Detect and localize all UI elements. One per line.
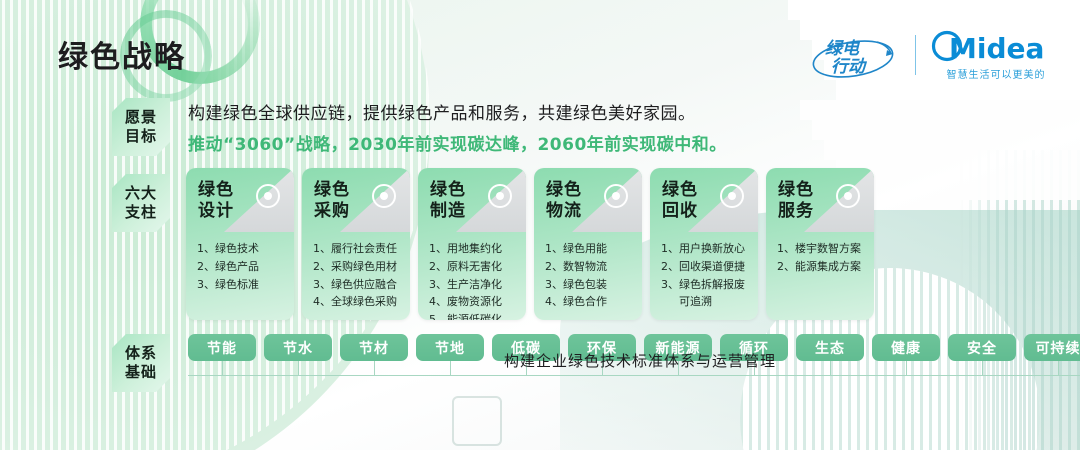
target-ring-icon: [488, 184, 512, 208]
vision-line-2: 推动“3060”战略，2030年前实现碳达峰，2060年前实现碳中和。: [188, 130, 727, 155]
brand-divider: [915, 35, 916, 75]
pillar-card[interactable]: 绿色 服务 1、楼宇数智方案 2、能源集成方案: [766, 168, 874, 320]
card-item-list: 1、用户换新放心 2、回收渠道便捷 3、绿色拆解报废 可追溯: [661, 240, 750, 311]
card-item: 1、履行社会责任: [313, 240, 402, 258]
card-item: 1、楼宇数智方案: [777, 240, 866, 258]
background-stripes-right: [960, 150, 1080, 450]
card-title: 绿色 回收: [662, 180, 698, 223]
target-ring-icon: [836, 184, 860, 208]
pillars-badge-line1: 六大: [125, 184, 157, 203]
midea-logo: Midea 智慧生活可以更美的: [930, 30, 1062, 81]
card-item: 1、绿色技术: [197, 240, 286, 258]
green-power-action-logo: 绿电 行动: [809, 28, 901, 82]
foundation-badge: 体系 基础: [112, 334, 170, 392]
pillars-section: 六大 支柱 绿色 设计 1、绿色技术 2、绿色产品 3、绿色标准: [112, 168, 874, 320]
vision-badge: 愿景 目标: [112, 98, 170, 156]
card-item: 4、绿色合作: [545, 293, 634, 311]
card-item: 4、废物资源化: [429, 293, 518, 311]
svg-text:绿电: 绿电: [825, 39, 861, 59]
vision-text: 构建绿色全球供应链，提供绿色产品和服务，共建绿色美好家园。 推动“3060”战略…: [188, 99, 727, 155]
card-item-list: 1、楼宇数智方案 2、能源集成方案: [777, 240, 866, 276]
card-title: 绿色 采购: [314, 180, 350, 223]
foundation-caption: 构建企业绿色技术标准体系与运营管理: [188, 350, 1080, 371]
target-ring-icon: [256, 184, 280, 208]
card-item: 3、生产洁净化: [429, 276, 518, 294]
card-item: 1、用地集约化: [429, 240, 518, 258]
card-item: 1、用户换新放心: [661, 240, 750, 258]
card-item: 3、绿色供应融合: [313, 276, 402, 294]
page-title: 绿色战略: [58, 32, 186, 76]
midea-wordmark: Midea: [930, 30, 1062, 64]
foundation-badge-line1: 体系: [125, 344, 157, 363]
foundation-badge-line2: 基础: [125, 363, 157, 382]
target-ring-icon: [604, 184, 628, 208]
card-item: 3、绿色包装: [545, 276, 634, 294]
slide-canvas: 绿色战略 绿电 行动 Midea 智慧生活可以更: [0, 0, 1080, 450]
midea-logotype: Midea: [930, 30, 1062, 64]
card-title-line2: 服务: [778, 201, 814, 222]
card-title-line1: 绿色: [662, 180, 698, 201]
card-item-list: 1、绿色技术 2、绿色产品 3、绿色标准: [197, 240, 286, 293]
card-item-list: 1、履行社会责任 2、采购绿色用材 3、绿色供应融合 4、全球绿色采购: [313, 240, 402, 311]
card-title: 绿色 制造: [430, 180, 466, 223]
card-title-line2: 物流: [546, 201, 582, 222]
card-item: 2、采购绿色用材: [313, 258, 402, 276]
card-item: 1、绿色用能: [545, 240, 634, 258]
pillar-card[interactable]: 绿色 采购 1、履行社会责任 2、采购绿色用材 3、绿色供应融合 4、全球绿色采…: [302, 168, 410, 320]
target-ring-icon: [720, 184, 744, 208]
green-power-action-mark: 绿电 行动: [809, 28, 901, 82]
foundation-tags-wrap: 节能 节水 节材 节地 低碳 环保 新能源 循环 生态 健康 安全 可持续 构建…: [188, 328, 1080, 383]
card-title-line1: 绿色: [314, 180, 350, 201]
card-title-line1: 绿色: [778, 180, 814, 201]
card-item-list: 1、绿色用能 2、数智物流 3、绿色包装 4、绿色合作: [545, 240, 634, 311]
pillar-card[interactable]: 绿色 制造 1、用地集约化 2、原料无害化 3、生产洁净化 4、废物资源化 5、…: [418, 168, 526, 320]
pillar-card[interactable]: 绿色 设计 1、绿色技术 2、绿色产品 3、绿色标准: [186, 168, 294, 320]
card-title-line2: 设计: [198, 201, 234, 222]
card-item: 2、原料无害化: [429, 258, 518, 276]
brand-bar: 绿电 行动 Midea 智慧生活可以更美的: [809, 24, 1062, 86]
pillars-badge-line2: 支柱: [125, 203, 157, 222]
card-item-list: 1、用地集约化 2、原料无害化 3、生产洁净化 4、废物资源化 5、能源低碳化: [429, 240, 518, 320]
card-item: 2、绿色产品: [197, 258, 286, 276]
card-title: 绿色 物流: [546, 180, 582, 223]
svg-text:行动: 行动: [831, 57, 868, 77]
card-item: 2、回收渠道便捷: [661, 258, 750, 276]
card-title: 绿色 设计: [198, 180, 234, 223]
card-title-line1: 绿色: [198, 180, 234, 201]
card-item: 2、能源集成方案: [777, 258, 866, 276]
vision-badge-line2: 目标: [125, 127, 157, 146]
pillars-badge: 六大 支柱: [112, 174, 170, 232]
target-ring-icon: [372, 184, 396, 208]
card-item: 3、绿色标准: [197, 276, 286, 294]
card-item: 3、绿色拆解报废: [661, 276, 750, 294]
connector-rail: [188, 375, 1080, 376]
card-item: 4、全球绿色采购: [313, 293, 402, 311]
card-item: 5、能源低碳化: [429, 311, 518, 320]
vision-badge-line1: 愿景: [125, 108, 157, 127]
card-title-line2: 制造: [430, 201, 466, 222]
card-item: 2、数智物流: [545, 258, 634, 276]
card-title: 绿色 服务: [778, 180, 814, 223]
vision-section: 愿景 目标 构建绿色全球供应链，提供绿色产品和服务，共建绿色美好家园。 推动“3…: [112, 98, 727, 156]
background-faint-square: [452, 396, 502, 446]
svg-text:Midea: Midea: [949, 32, 1044, 64]
card-title-line2: 回收: [662, 201, 698, 222]
card-item: 可追溯: [661, 293, 750, 311]
pillar-card[interactable]: 绿色 物流 1、绿色用能 2、数智物流 3、绿色包装 4、绿色合作: [534, 168, 642, 320]
vision-line-1: 构建绿色全球供应链，提供绿色产品和服务，共建绿色美好家园。: [188, 99, 727, 124]
foundation-section: 体系 基础 节能 节水 节材 节地 低碳 环保 新能源 循环 生态 健康 安全 …: [112, 328, 1080, 392]
pillar-card[interactable]: 绿色 回收 1、用户换新放心 2、回收渠道便捷 3、绿色拆解报废 可追溯: [650, 168, 758, 320]
pillar-card-list: 绿色 设计 1、绿色技术 2、绿色产品 3、绿色标准 绿色 采购 1、履行社会责…: [186, 168, 874, 320]
card-title-line1: 绿色: [546, 180, 582, 201]
card-title-line2: 采购: [314, 201, 350, 222]
card-title-line1: 绿色: [430, 180, 466, 201]
midea-tagline: 智慧生活可以更美的: [947, 66, 1046, 81]
